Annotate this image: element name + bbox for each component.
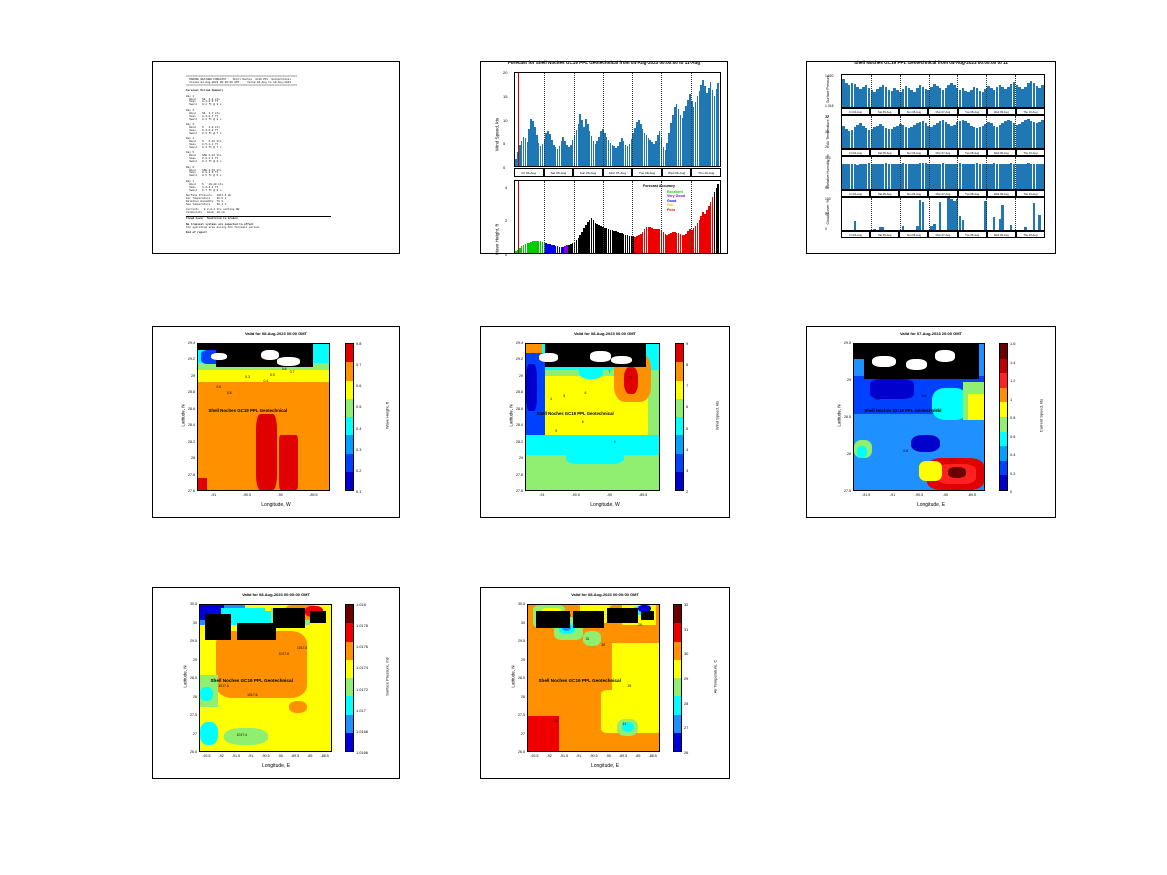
contour-label: 31: [586, 637, 590, 641]
met-y-tick: 1.020: [825, 74, 834, 78]
wave-height-map-panel: Valid for 08-Aug-2023 00:00 GMT0.30.40.5…: [152, 326, 400, 518]
met-y-tick: 50: [825, 212, 829, 216]
colorbar-tick-label: 0.2: [356, 468, 361, 473]
field-region: [911, 435, 940, 453]
map-title: Valid for 07-Aug-2023 20:00 GMT: [807, 331, 1055, 336]
y-tick-label: 10: [503, 118, 507, 123]
colorbar-tick-label: 6: [686, 404, 688, 409]
colorbar-tick-label: 29: [684, 676, 688, 681]
today-marker: [518, 73, 519, 166]
contour-label: 0.5: [270, 373, 275, 377]
day-label: Mon 07-Aug: [603, 168, 633, 177]
day-label: Sun 06-Aug: [573, 168, 603, 177]
met-day-label: Fri 04-Aug: [841, 108, 870, 115]
met-y-tick: 0: [825, 227, 827, 231]
day-label: Fri 04-Aug: [514, 168, 544, 177]
x-tick-label: -89.5: [960, 493, 984, 497]
legend-item: Fair: [667, 203, 674, 207]
x-tick-label: -90: [268, 493, 292, 497]
bar: [1010, 225, 1013, 230]
map-title: Valid for 08-Aug-2023 00:00 GMT: [153, 331, 399, 336]
contour-label: 29: [544, 620, 548, 624]
y-tick-label: 27.8: [180, 473, 195, 477]
colorbar-tick-label: 31: [684, 627, 688, 632]
contour-label: 1017.4: [237, 733, 247, 737]
met-day-label: Fri 04-Aug: [841, 231, 870, 238]
colorbar-tick-label: 1.0166: [356, 750, 368, 755]
met-subplot-2[interactable]: [841, 156, 1045, 190]
met-day-label: Mon 07-Aug: [928, 231, 957, 238]
contour-label: 0.4: [264, 379, 269, 383]
y-tick-label: 27: [182, 732, 197, 736]
x-tick-label: -90: [597, 493, 621, 497]
legend-title: Forecast Accuracy: [643, 184, 675, 188]
contour-label: 0.6: [216, 385, 221, 389]
y-tick-label: 15: [503, 94, 507, 99]
site-label: Shell Noches GC19 PPL Geotechnical: [208, 408, 287, 413]
contour-label: 1017.4: [258, 637, 268, 641]
y-tick-label: 27.5: [182, 713, 197, 717]
met-day-label: Tue 08-Aug: [958, 108, 987, 115]
colorbar-tick-label: 1.018: [356, 602, 366, 607]
wind-speed-map-panel: Valid for 08-Aug-2023 00:00 GMT45678654S…: [480, 326, 730, 518]
colorbar[interactable]: [345, 604, 354, 752]
colorbar-label: Surface Pressure, mb: [385, 647, 390, 707]
colorbar-tick-label: 8: [686, 362, 688, 367]
colorbar-tick-label: 9: [686, 341, 688, 346]
colorbar-tick-label: 1.0172: [356, 687, 368, 692]
colorbar-tick-label: 0: [1010, 489, 1012, 494]
met-day-label: Tue 08-Aug: [958, 231, 987, 238]
map-plot-area[interactable]: 2930313029303129Shell Noches GC19 PPL Ge…: [527, 604, 660, 752]
y-tick-label: 30: [510, 621, 525, 625]
contour-label: 30: [554, 719, 558, 723]
bar: [902, 226, 905, 230]
landmass: [906, 359, 927, 371]
met-subplot-3[interactable]: [841, 197, 1045, 231]
landmass: [607, 608, 638, 623]
bar-series: [842, 198, 1044, 230]
colorbar-label: Current Speed, kts: [1039, 386, 1044, 446]
y-tick-label: 27.6: [180, 489, 195, 493]
x-tick-label: -91: [881, 493, 905, 497]
met-subplot-1[interactable]: [841, 115, 1045, 149]
y-tick-label: 29.4: [508, 341, 523, 345]
colorbar-tick-label: 0.1: [356, 489, 361, 494]
colorbar[interactable]: [673, 604, 682, 752]
contour-label: 30: [567, 614, 571, 618]
colorbar-tick-label: 30: [684, 651, 688, 656]
report-line: Visibility Good, 10 nm: [186, 212, 393, 215]
y-tick-label: 29.4: [180, 341, 195, 345]
met-day-label: Sun 06-Aug: [899, 190, 928, 197]
map-plot-area[interactable]: 0.30.40.50.60.80.60.7Shell Noches GC19 P…: [197, 343, 330, 491]
contour-label: 8: [630, 376, 632, 380]
bar: [939, 202, 942, 230]
colorbar-tick-label: 3: [686, 468, 688, 473]
y-tick-label: 30.5: [510, 602, 525, 606]
contour-label: 29: [638, 623, 642, 627]
field-region: [279, 435, 297, 490]
y-tick-label: 20: [503, 70, 507, 75]
met-day-label: Thu 10-Aug: [1016, 190, 1045, 197]
y-tick-label: 27.5: [510, 713, 525, 717]
x-tick-label: -88.5: [313, 754, 337, 758]
landmass: [935, 350, 956, 362]
y-tick-label: 29.2: [180, 357, 195, 361]
map-plot-area[interactable]: 1017.21017.41017.61017.81017.41017.61017…: [199, 604, 332, 752]
landmass: [273, 608, 304, 628]
landmass: [641, 611, 654, 620]
bar: [1001, 205, 1004, 230]
bar: [993, 217, 996, 230]
bar: [854, 221, 857, 230]
bar: [922, 202, 925, 230]
y-tick-label: 28: [836, 452, 851, 456]
wave-height-chart[interactable]: [514, 180, 721, 254]
contour-label: 7: [608, 370, 610, 374]
field-region: [289, 701, 307, 713]
landmass: [854, 344, 867, 359]
colorbar-tick-label: 0.2: [1010, 471, 1015, 476]
landmass: [872, 356, 895, 368]
contour-label: 4: [614, 440, 616, 444]
report-text-body: ========================================…: [186, 76, 393, 247]
x-tick-label: -91: [202, 493, 226, 497]
colorbar-tick-label: 32: [684, 602, 688, 607]
colorbar-label: Air Temperature, C: [713, 647, 718, 707]
contour-label: 0.8: [227, 391, 232, 395]
colorbar-label: Wave Height, ft: [385, 386, 390, 446]
today-marker: [518, 181, 519, 253]
colorbar-tick-label: 0.4: [356, 426, 361, 431]
colorbar-tick-label: 1.2: [1010, 378, 1015, 383]
colorbar[interactable]: [675, 343, 684, 491]
map-plot-area[interactable]: 45678654Shell Noches GC19 PPL Geotechnic…: [525, 343, 660, 491]
y-tick-label: 29.2: [508, 357, 523, 361]
surface-pressure-map-panel: Valid for 08-Aug-2023 00:00:00 GMT1017.2…: [152, 587, 400, 779]
field-region: [200, 687, 213, 702]
y-tick-label: 2: [505, 218, 507, 223]
y-axis-label: Latitude, N: [837, 386, 842, 446]
met-day-label: Mon 07-Aug: [928, 149, 957, 156]
colorbar-tick-label: 2: [686, 489, 688, 494]
field-region: [857, 446, 867, 458]
met-day-label: Mon 07-Aug: [928, 190, 957, 197]
y-tick-label: 0: [503, 165, 505, 170]
met-day-label: Fri 04-Aug: [841, 149, 870, 156]
report-line: End of report: [186, 232, 393, 235]
landmass: [573, 611, 604, 629]
colorbar-tick-label: 1.0176: [356, 644, 368, 649]
colorbar-tick-label: 0.5: [356, 404, 361, 409]
y-tick-label: 29.5: [510, 639, 525, 643]
contour-label: 1017.2: [216, 631, 226, 635]
met-y-tick: 100: [825, 156, 831, 160]
wave-height-axis-label: Wave Height, ft: [495, 210, 500, 270]
day-label: Wed 09-Aug: [662, 168, 692, 177]
colorbar-tick-label: 0.3: [356, 447, 361, 452]
colorbar-tick-label: 27: [684, 725, 688, 730]
colorbar-tick-label: 1.4: [1010, 360, 1015, 365]
landmass: [211, 353, 227, 360]
x-tick-label: -89.5: [301, 493, 325, 497]
forecast-text-report-panel: ========================================…: [152, 61, 400, 254]
met-day-label: Fri 04-Aug: [841, 190, 870, 197]
y-tick-label: 27.5: [836, 489, 851, 493]
y-tick-label: 30: [182, 621, 197, 625]
bar: [1041, 164, 1044, 189]
map-title: Valid for 08-Aug-2023 00:00:00 GMT: [153, 592, 399, 597]
field-region: [948, 467, 966, 479]
y-tick-label: 29: [836, 378, 851, 382]
x-tick-label: -91: [530, 493, 554, 497]
contour-label: 6: [582, 420, 584, 424]
met-day-label: Tue 08-Aug: [958, 149, 987, 156]
panel-title: Forecast for Shell Noches GC19 PPL Geote…: [479, 60, 729, 65]
met-day-label: Sun 06-Aug: [899, 231, 928, 238]
site-label: Shell Noches GC19 PPL Geotechnical: [538, 678, 620, 683]
legend-item: Good: [667, 199, 676, 203]
contour-label: 30: [601, 643, 605, 647]
bar-series: [842, 157, 1044, 189]
x-tick-label: -88.5: [641, 754, 665, 758]
contour-label: 1017.6: [279, 652, 289, 656]
colorbar-tick-label: 1.017: [356, 708, 366, 713]
bar-series: [515, 181, 720, 253]
met-y-tick: 100: [825, 197, 831, 201]
bar: [962, 220, 965, 230]
bar-series: [842, 75, 1044, 107]
bar-series: [515, 73, 720, 166]
landmass: [277, 357, 301, 366]
contour-label: 0.8: [903, 449, 908, 453]
colorbar-tick-label: 7: [686, 383, 688, 388]
colorbar-tick-label: 0.6: [356, 383, 361, 388]
y-tick-label: 4: [505, 185, 507, 190]
y-axis-label: Latitude, N: [181, 386, 186, 446]
panel-title: Shell Noches GC19 PPL Geotechnical from …: [805, 60, 1057, 65]
map-title: Valid for 08-Aug-2023 00:00 GMT: [481, 331, 729, 336]
colorbar-tick-label: 1.0168: [356, 729, 368, 734]
contour-label: 1017.8: [297, 646, 307, 650]
bar: [882, 227, 885, 230]
met-y-tick: 32: [825, 115, 829, 119]
field-region: [200, 722, 218, 745]
colorbar-tick-label: 0.8: [356, 341, 361, 346]
colorbar-tick-label: 0.7: [356, 362, 361, 367]
y-tick-label: 27: [510, 732, 525, 736]
colorbar-tick-label: 1.6: [1010, 341, 1015, 346]
x-axis-label: Longitude, E: [153, 763, 399, 769]
colorbar-tick-label: 4: [686, 447, 688, 452]
wind-wave-forecast-panel: Forecast for Shell Noches GC19 PPL Geote…: [480, 61, 728, 254]
met-parameters-panel: Shell Noches GC19 PPL Geotechnical from …: [806, 61, 1056, 254]
landmass: [536, 611, 570, 629]
contour-label: 0.4: [922, 394, 927, 398]
y-tick-label: 29.5: [182, 639, 197, 643]
bar: [717, 184, 719, 253]
current-speed-map-panel: Valid for 07-Aug-2023 20:00 GMT0.20.40.6…: [806, 326, 1056, 518]
colorbar-label: Wind Speed, kts: [715, 386, 720, 446]
field-region: [968, 394, 984, 420]
contour-label: 5: [555, 429, 557, 433]
landmass: [310, 611, 326, 623]
x-tick-label: -90.5: [907, 493, 931, 497]
y-tick-label: 29: [508, 374, 523, 378]
contour-label: 4: [550, 397, 552, 401]
y-tick-label: 27.6: [508, 489, 523, 493]
met-day-label: Sat 05-Aug: [870, 149, 899, 156]
x-axis-label: Longitude, W: [481, 502, 729, 508]
y-axis-label: Latitude, N: [511, 647, 516, 707]
met-day-label: Tue 08-Aug: [958, 190, 987, 197]
x-tick-label: -90.5: [235, 493, 259, 497]
colorbar-tick-label: 5: [686, 426, 688, 431]
field-region: [624, 367, 637, 393]
wind-speed-axis-label: Wind Speed, kts: [495, 105, 500, 165]
bar: [1024, 227, 1027, 230]
landmass: [237, 623, 276, 641]
met-day-label: Wed 09-Aug: [987, 149, 1016, 156]
met-subplot-0[interactable]: [841, 74, 1045, 108]
contour-label: 1017.8: [218, 684, 228, 688]
x-tick-label: -90.5: [564, 493, 588, 497]
field-region: [198, 478, 207, 490]
x-axis-label: Longitude, E: [807, 502, 1055, 508]
legend-item: Very Good: [667, 194, 685, 198]
colorbar-tick-label: 1.0174: [356, 665, 368, 670]
site-label: Shell Noches GC19 PPL Geotechnical: [210, 678, 292, 683]
landmass: [526, 344, 542, 353]
y-tick-label: 5: [503, 141, 505, 146]
map-title: Valid for 08-Aug-2023 00:00:00 GMT: [481, 592, 729, 597]
bar: [1041, 85, 1044, 107]
landmass: [539, 353, 558, 362]
met-day-label: Wed 09-Aug: [987, 231, 1016, 238]
met-day-label: Thu 10-Aug: [1016, 149, 1045, 156]
contour-label: 0.3: [245, 375, 250, 379]
colorbar-tick-label: 28: [684, 701, 688, 706]
y-tick-label: 28: [180, 456, 195, 460]
day-label: Sat 05-Aug: [544, 168, 574, 177]
met-y-tick: 30: [825, 130, 829, 134]
bar: [1041, 120, 1044, 148]
legend-item: Poor: [667, 208, 675, 212]
colorbar-tick-label: 1: [1010, 397, 1012, 402]
met-day-label: Mon 07-Aug: [928, 108, 957, 115]
bar: [873, 229, 876, 230]
bar: [933, 224, 936, 230]
bar-series: [842, 116, 1044, 148]
landmass: [198, 344, 216, 350]
landmass: [590, 351, 611, 361]
met-day-label: Sat 05-Aug: [870, 231, 899, 238]
y-tick-label: 29: [180, 374, 195, 378]
site-label: Shell Noches GC19 PPL Geotechnical: [537, 411, 614, 416]
colorbar-tick-label: 0.4: [1010, 452, 1015, 457]
bar: [717, 83, 719, 166]
y-axis-label: Latitude, N: [183, 647, 188, 707]
field-region: [919, 461, 942, 481]
colorbar[interactable]: [999, 343, 1008, 491]
y-tick-label: 29: [508, 456, 523, 460]
met-day-label: Sun 06-Aug: [899, 149, 928, 156]
contour-label: 6: [585, 391, 587, 395]
map-plot-area[interactable]: 0.20.40.60.81.2Shell Noches GC19 PPL Geo…: [853, 343, 985, 491]
met-day-label: Thu 10-Aug: [1016, 231, 1045, 238]
y-tick-label: 30.5: [182, 602, 197, 606]
wind-speed-chart[interactable]: [514, 72, 721, 167]
contour-label: 5: [563, 394, 565, 398]
met-day-label: Thu 10-Aug: [1016, 108, 1045, 115]
colorbar-tick-label: 26: [684, 750, 688, 755]
contour-label: 0.7: [290, 370, 295, 374]
legend-item: Excellent: [667, 190, 683, 194]
landmass: [205, 614, 231, 640]
colorbar-tick-label: 0.6: [1010, 434, 1015, 439]
contour-label: 31: [622, 722, 626, 726]
field-region: [526, 364, 537, 411]
day-label: Tue 08-Aug: [632, 168, 662, 177]
colorbar-tick-label: 1.0178: [356, 623, 368, 628]
bar: [1038, 215, 1041, 230]
colorbar-tick-label: 0.8: [1010, 415, 1015, 420]
contour-label: 0.6: [282, 367, 287, 371]
met-day-label: Wed 09-Aug: [987, 190, 1016, 197]
x-tick-label: -90: [933, 493, 957, 497]
air-temperature-map-panel: Valid for 08-Aug-2023 00:00:00 GMT293031…: [480, 587, 730, 779]
day-label: Thu 10-Aug: [691, 168, 721, 177]
bar: [1033, 203, 1036, 230]
contour-label: 29: [628, 684, 632, 688]
met-day-label: Sat 05-Aug: [870, 190, 899, 197]
site-label: Shell Noches GC19 PPL Geotechnical: [864, 408, 941, 413]
met-day-label: Sun 06-Aug: [899, 108, 928, 115]
field-region: [256, 414, 277, 490]
y-tick-label: 27.8: [508, 473, 523, 477]
contour-label: 1017.6: [247, 693, 257, 697]
met-day-label: Wed 09-Aug: [987, 108, 1016, 115]
x-tick-label: -89.5: [631, 493, 655, 497]
y-tick-label: 0: [505, 252, 507, 257]
x-axis-label: Longitude, E: [481, 763, 729, 769]
met-day-label: Sat 05-Aug: [870, 108, 899, 115]
y-tick-label: 29.5: [836, 341, 851, 345]
contour-label: 0.2: [875, 397, 880, 401]
y-axis-label: Latitude, N: [509, 386, 514, 446]
contour-label: 1.2: [950, 458, 955, 462]
colorbar[interactable]: [345, 343, 354, 491]
x-tick-label: -91.5: [854, 493, 878, 497]
x-axis-label: Longitude, W: [153, 502, 399, 508]
